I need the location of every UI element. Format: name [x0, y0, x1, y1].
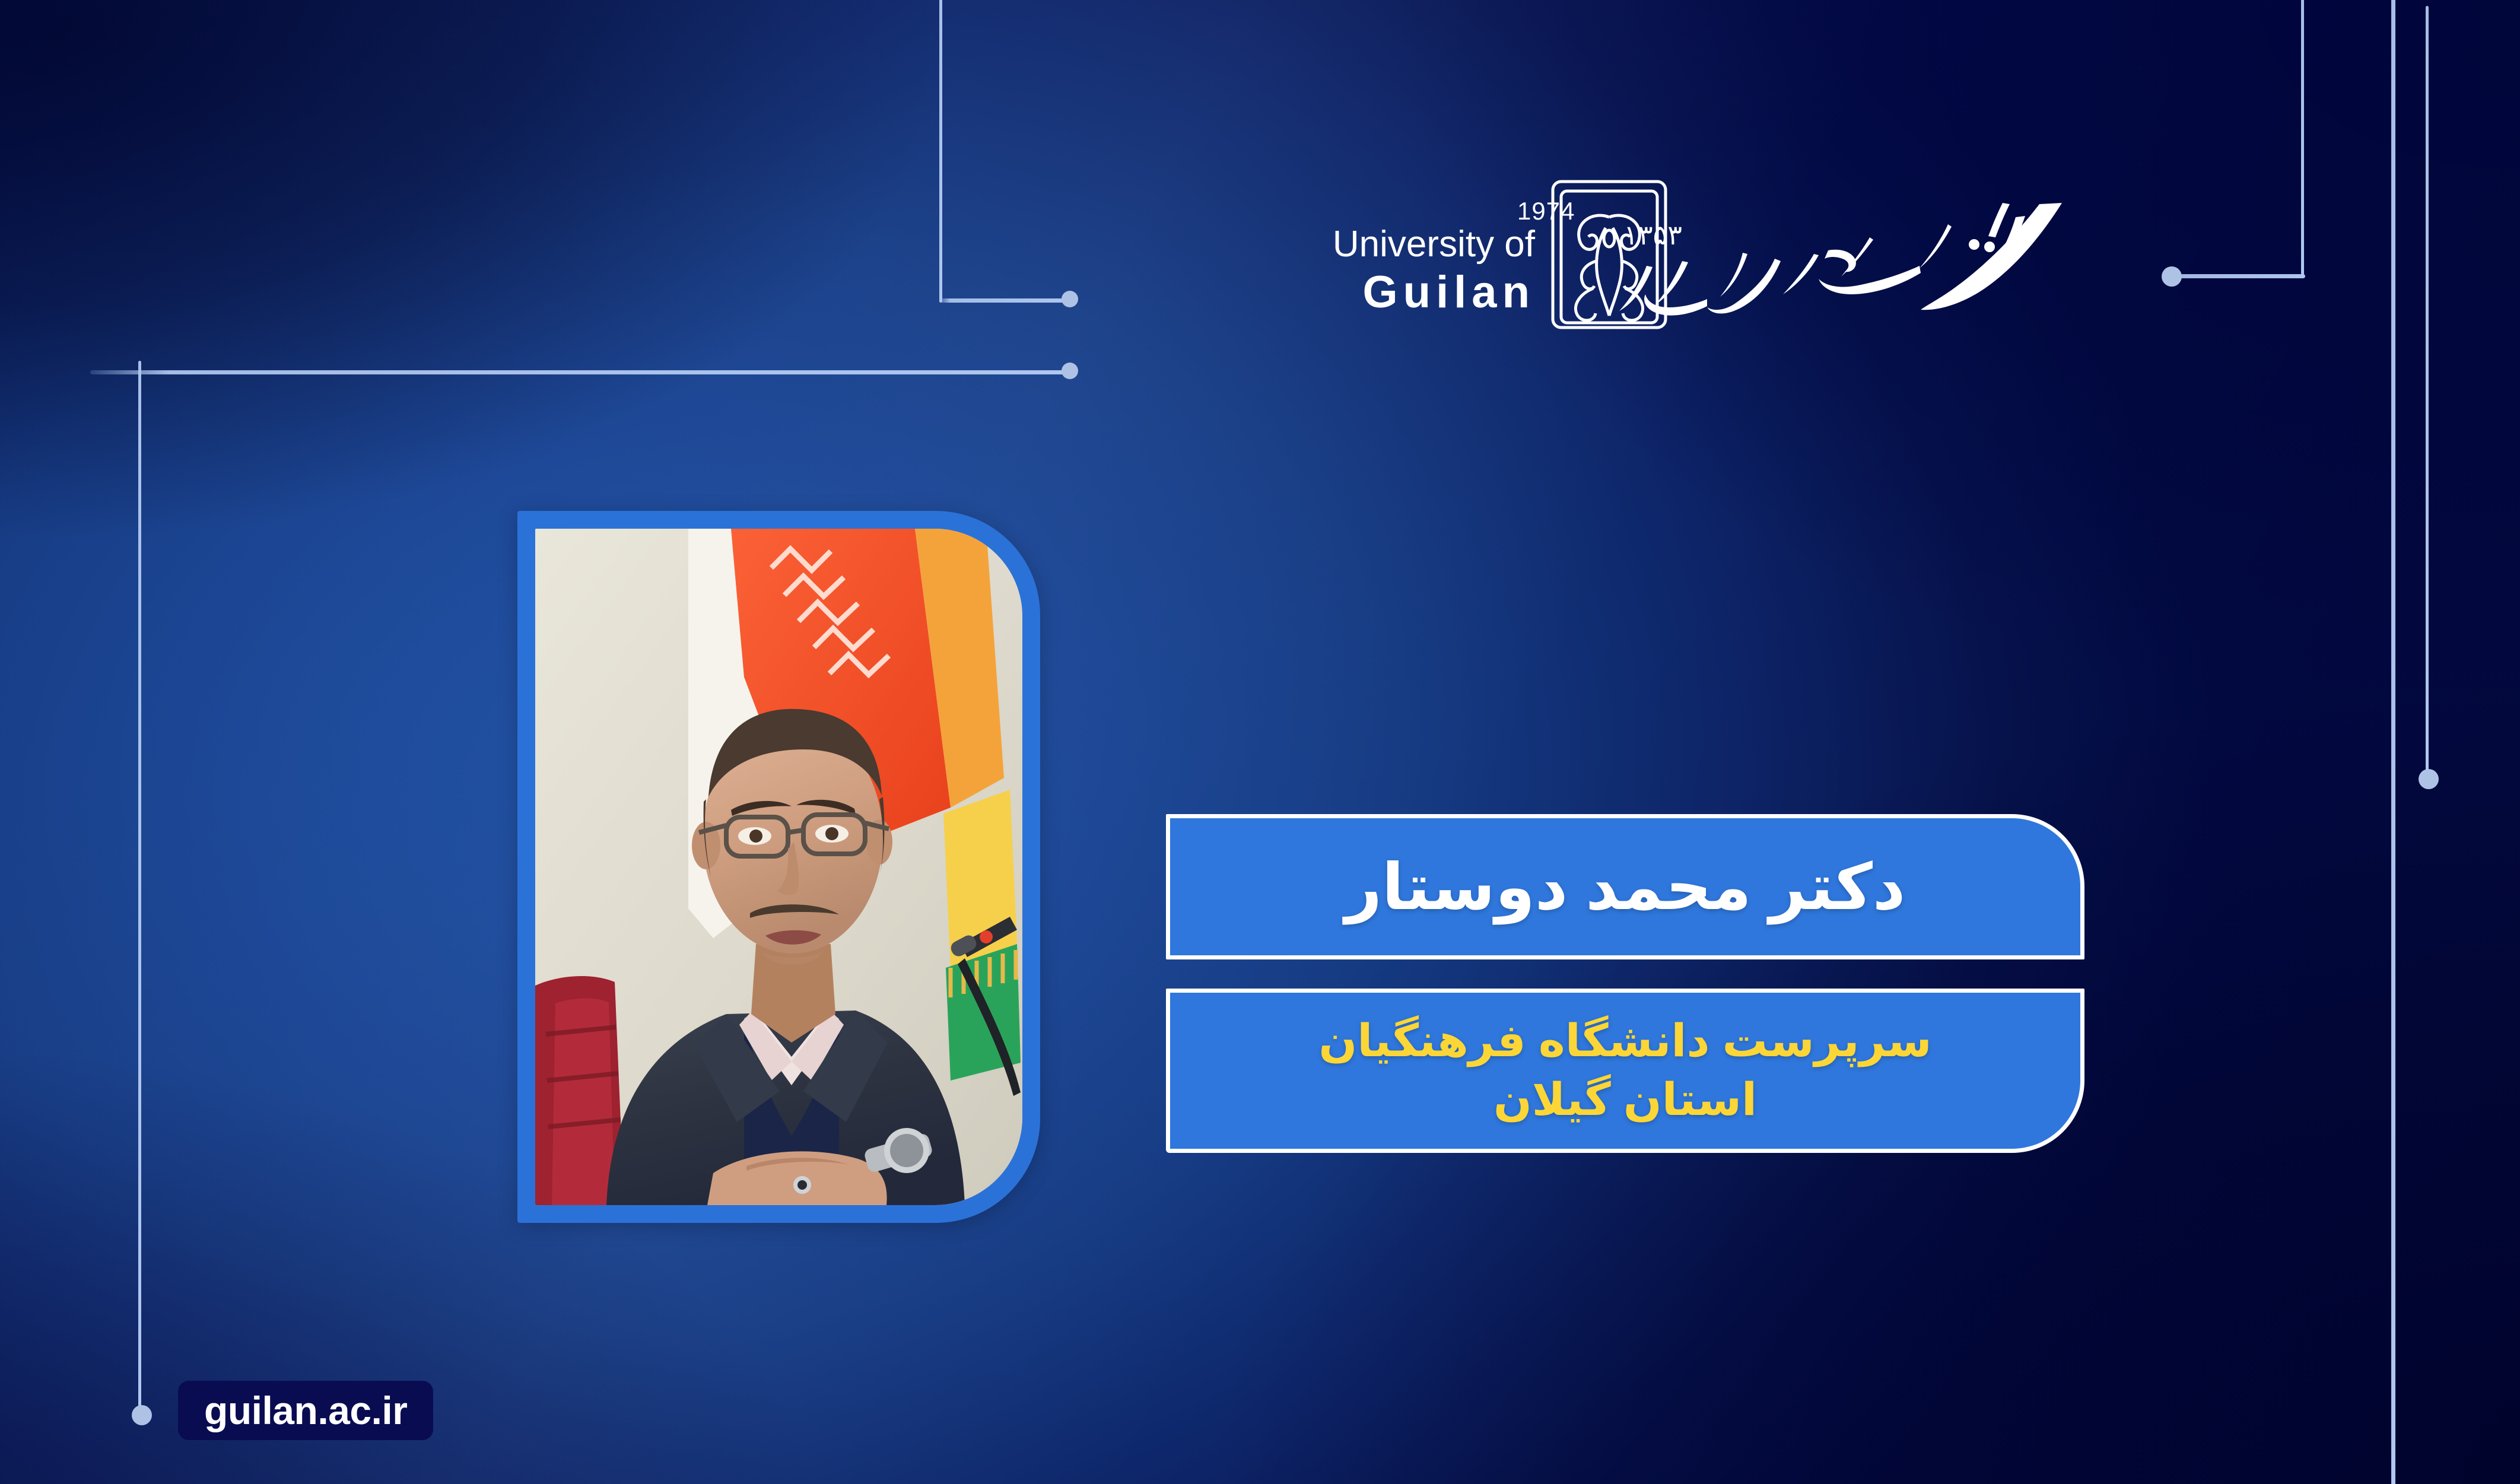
person-title-line2: استان گیلان: [1493, 1073, 1757, 1128]
svg-text:University of: University of: [1333, 224, 1536, 265]
website-url-badge[interactable]: guilan.ac.ir: [178, 1381, 433, 1440]
svg-text:1974: 1974: [1517, 197, 1575, 225]
svg-text:۱۳۵۳: ۱۳۵۳: [1623, 219, 1682, 251]
person-name-text: دکتر محمد دوستار: [1345, 853, 1906, 920]
person-title-banner: سرپرست دانشگاه فرهنگیان استان گیلان: [1166, 989, 2084, 1153]
announcement-card: 1974 ۱۳۵۳ University of Guilan: [0, 0, 2520, 1484]
svg-text:Guilan: Guilan: [1363, 267, 1535, 317]
university-logo: 1974 ۱۳۵۳ University of Guilan: [1154, 178, 2103, 332]
portrait-frame: [517, 511, 1040, 1223]
portrait-photo: [535, 529, 1022, 1205]
person-name-banner: دکتر محمد دوستار: [1166, 814, 2084, 959]
person-title-line1: سرپرست دانشگاه فرهنگیان: [1318, 1014, 1931, 1069]
website-url-text: guilan.ac.ir: [204, 1388, 407, 1433]
